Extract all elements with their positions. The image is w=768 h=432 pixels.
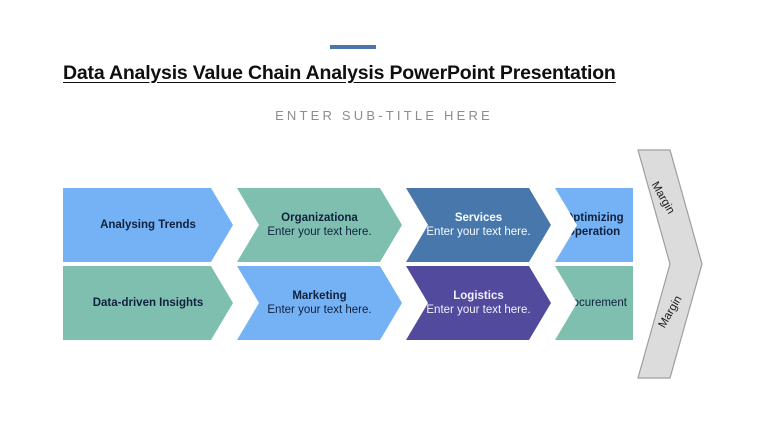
value-chain-diagram: Analysing Trends Organizationa Enter you… <box>63 188 633 340</box>
primary-activities-row: Analysing Trends Organizationa Enter you… <box>63 188 633 262</box>
chevron-optimizing-operation[interactable]: Optimizing operation <box>555 188 633 262</box>
margin-arrow[interactable] <box>624 148 704 380</box>
margin-arrow-shape <box>624 148 704 380</box>
chevron-subtitle: Enter your text here. <box>426 225 530 239</box>
chevron-title: Optimizing operation <box>555 211 633 239</box>
page-subtitle: ENTER SUB-TITLE HERE <box>184 106 584 125</box>
chevron-analysing-trends[interactable]: Analysing Trends <box>63 188 233 262</box>
chevron-title: Organizationa <box>281 211 358 225</box>
page-title: Data Analysis Value Chain Analysis Power… <box>63 62 703 85</box>
support-activities-row: Data-driven Insights Marketing Enter you… <box>63 266 633 340</box>
chevron-services[interactable]: Services Enter your text here. <box>406 188 551 262</box>
slide-canvas: Data Analysis Value Chain Analysis Power… <box>0 0 768 432</box>
chevron-marketing[interactable]: Marketing Enter your text here. <box>237 266 402 340</box>
chevron-title: Logistics <box>453 289 503 303</box>
chevron-procurement[interactable]: Procurement <box>555 266 633 340</box>
chevron-subtitle: Enter your text here. <box>267 225 371 239</box>
chevron-title: Services <box>455 211 502 225</box>
chevron-title: Marketing <box>292 289 346 303</box>
chevron-title: Procurement <box>561 296 627 310</box>
chevron-subtitle: Enter your text here. <box>267 303 371 317</box>
chevron-data-driven-insights[interactable]: Data-driven Insights <box>63 266 233 340</box>
title-accent-bar <box>330 45 376 49</box>
chevron-logistics[interactable]: Logistics Enter your text here. <box>406 266 551 340</box>
chevron-subtitle: Enter your text here. <box>426 303 530 317</box>
chevron-title: Analysing Trends <box>100 218 196 232</box>
chevron-organizationa[interactable]: Organizationa Enter your text here. <box>237 188 402 262</box>
chevron-title: Data-driven Insights <box>93 296 204 310</box>
